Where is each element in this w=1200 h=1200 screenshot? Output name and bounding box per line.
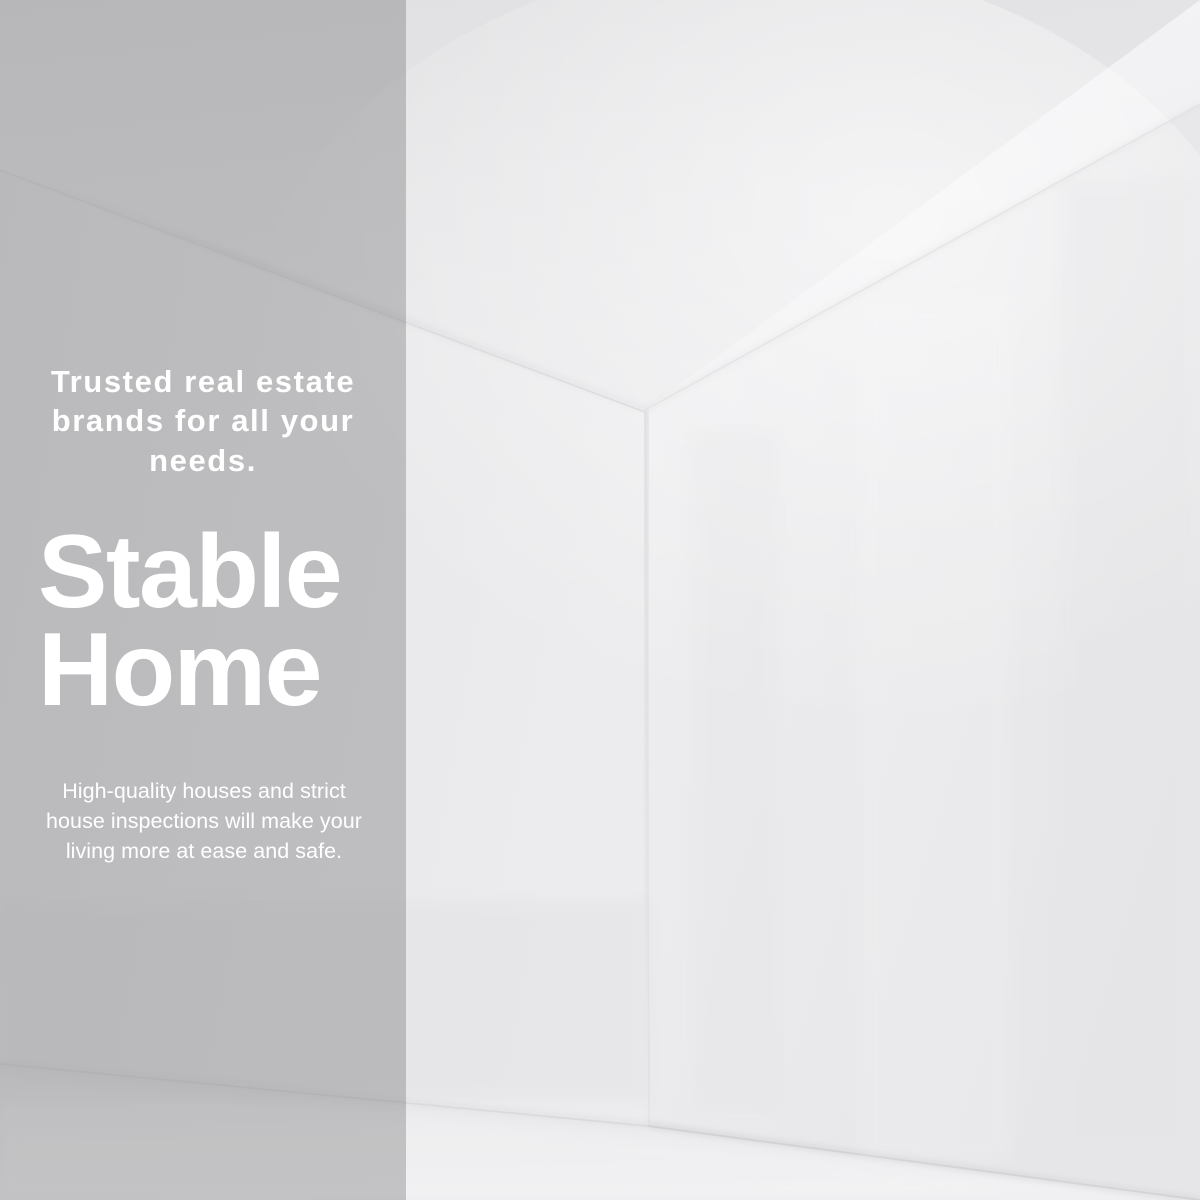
- wall-light-band-c: [690, 430, 780, 1110]
- body-line-1: High-quality houses and strict: [32, 776, 376, 806]
- content-column: Trusted real estate brands for all your …: [0, 0, 406, 1200]
- poster-canvas: Trusted real estate brands for all your …: [0, 0, 1200, 1200]
- eyebrow-line-1: Trusted real: [51, 364, 246, 399]
- body-line-3: living more at ease and safe.: [32, 836, 376, 866]
- headline-line-1: Stable: [38, 524, 376, 622]
- page-title: Stable Home: [30, 480, 376, 720]
- body-paragraph: High-quality houses and strict house ins…: [30, 720, 376, 867]
- body-line-2: house inspections will make your: [32, 806, 376, 836]
- wall-light-band-a: [860, 300, 1010, 1160]
- headline-line-2: Home: [38, 622, 376, 720]
- eyebrow-text: Trusted real estate brands for all your …: [30, 0, 376, 480]
- wall-light-band-b: [1060, 180, 1200, 1160]
